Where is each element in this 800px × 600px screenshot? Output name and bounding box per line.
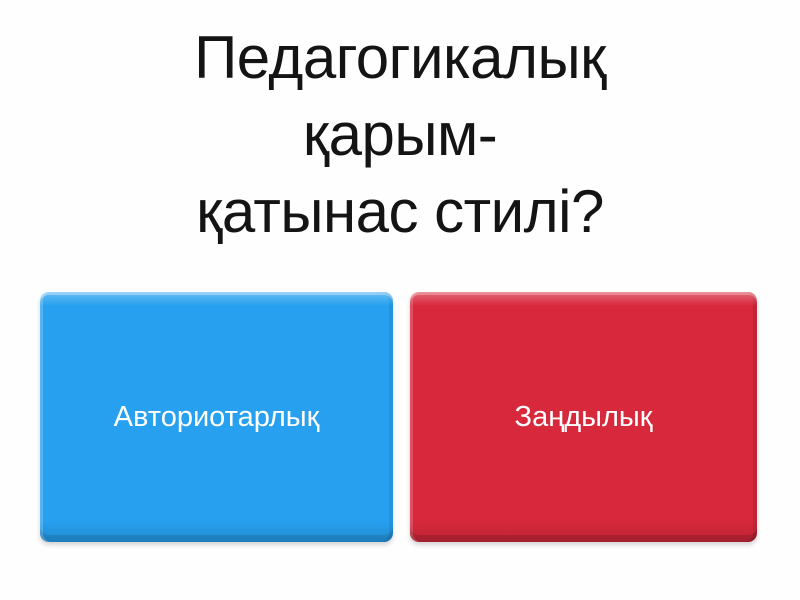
answer-option-button-2[interactable]: Заңдылық — [410, 292, 757, 542]
answer-option-label-1: Авториотарлық — [100, 400, 334, 435]
question-area: Педагогикалық қарым- қатынас стилі? — [0, 20, 800, 272]
quiz-question-screen: Педагогикалық қарым- қатынас стилі? Авто… — [0, 0, 800, 600]
answer-options-area: Авториотарлық Заңдылық — [0, 292, 800, 544]
answer-option-button-1[interactable]: Авториотарлық — [40, 292, 393, 542]
question-text: Педагогикалық қарым- қатынас стилі? — [100, 20, 700, 250]
answer-option-label-2: Заңдылық — [501, 400, 667, 435]
